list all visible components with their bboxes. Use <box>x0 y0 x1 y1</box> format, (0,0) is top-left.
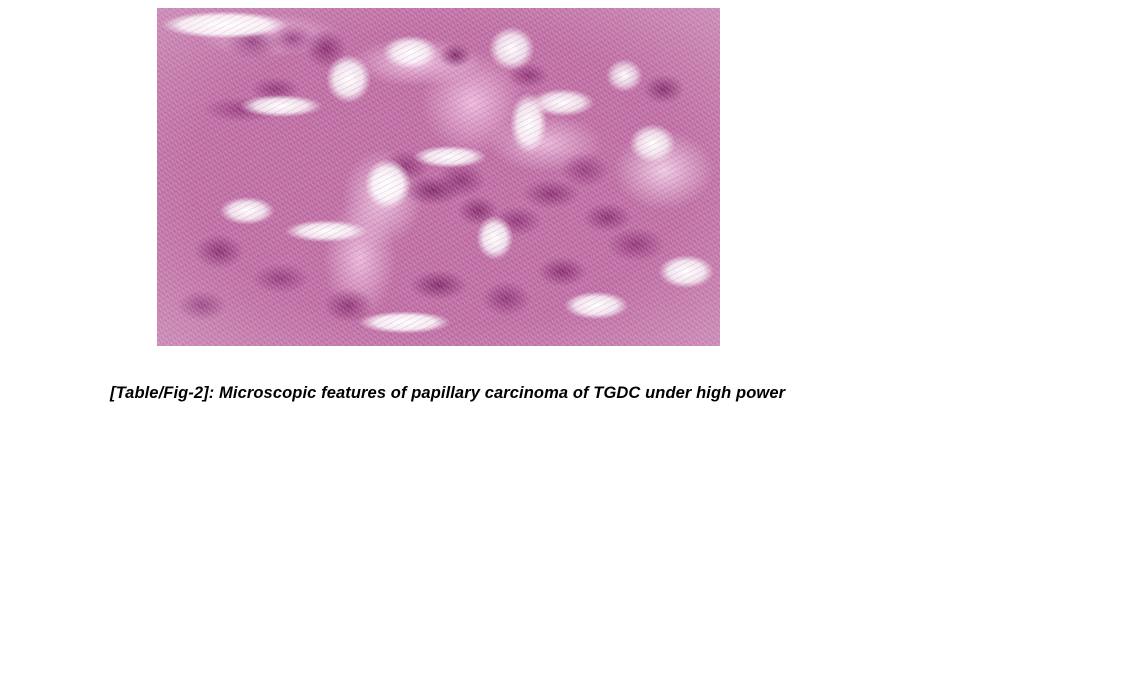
figure-block: [Table/Fig-2]: Microscopic features of p… <box>0 0 1124 678</box>
micrograph-image <box>157 8 720 346</box>
figure-caption-text: [Table/Fig-2]: Microscopic features of p… <box>110 384 785 402</box>
micrograph-canvas <box>157 8 720 346</box>
figure-caption: [Table/Fig-2]: Microscopic features of p… <box>110 381 800 405</box>
luminal-spaces-layer <box>157 8 720 346</box>
